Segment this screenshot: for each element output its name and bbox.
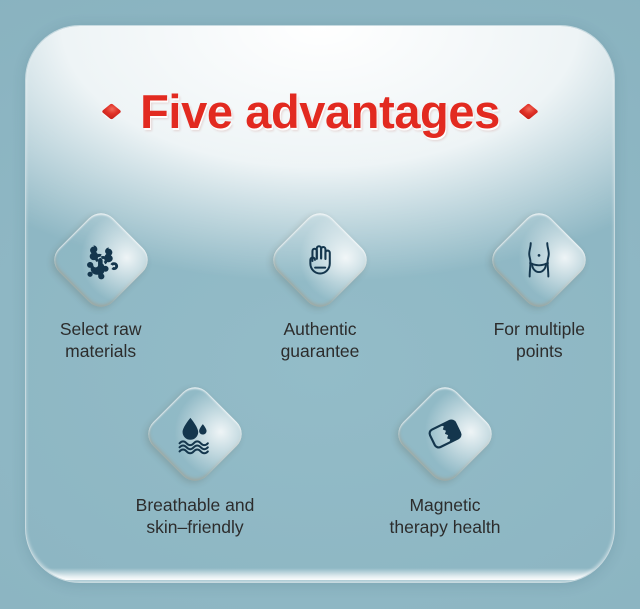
- ginger-root-icon: [78, 237, 124, 283]
- feature-label: Breathable and skin–friendly: [136, 494, 255, 539]
- feature-item-authentic-guarantee: Authentic guarantee: [245, 222, 394, 363]
- feature-badge: [47, 206, 154, 313]
- feature-badge: [486, 206, 593, 313]
- feature-item-select-raw-materials: Select raw materials: [26, 222, 175, 363]
- feature-badge: [266, 206, 373, 313]
- torso-waist-icon: [516, 237, 562, 283]
- feature-item-breathable-skin-friendly: Breathable and skin–friendly: [111, 396, 279, 539]
- feature-item-magnetic-therapy-health: Magnetic therapy health: [361, 396, 529, 539]
- open-hand-icon: [299, 239, 341, 281]
- feature-label: Authentic guarantee: [281, 318, 360, 363]
- diamond-bullet-right-icon: [518, 103, 538, 119]
- page-background: Five advantages: [0, 0, 640, 609]
- feature-card: Five advantages: [26, 26, 614, 582]
- feature-label: Select raw materials: [60, 318, 142, 363]
- feature-badge: [391, 380, 498, 487]
- page-title-row: Five advantages: [26, 88, 614, 135]
- feature-label: For multiple points: [494, 318, 585, 363]
- feature-item-for-multiple-points: For multiple points: [465, 222, 614, 363]
- feature-row-top: Select raw materials: [26, 222, 614, 363]
- feature-row-bottom: Breathable and skin–friendly: [26, 396, 614, 539]
- diamond-bullet-left-icon: [101, 103, 121, 119]
- feature-badge: [141, 380, 248, 487]
- page-title: Five advantages: [140, 88, 500, 135]
- feature-label: Magnetic therapy health: [390, 494, 501, 539]
- magnet-patch-icon: [422, 411, 468, 457]
- water-drop-waves-icon: [173, 412, 217, 456]
